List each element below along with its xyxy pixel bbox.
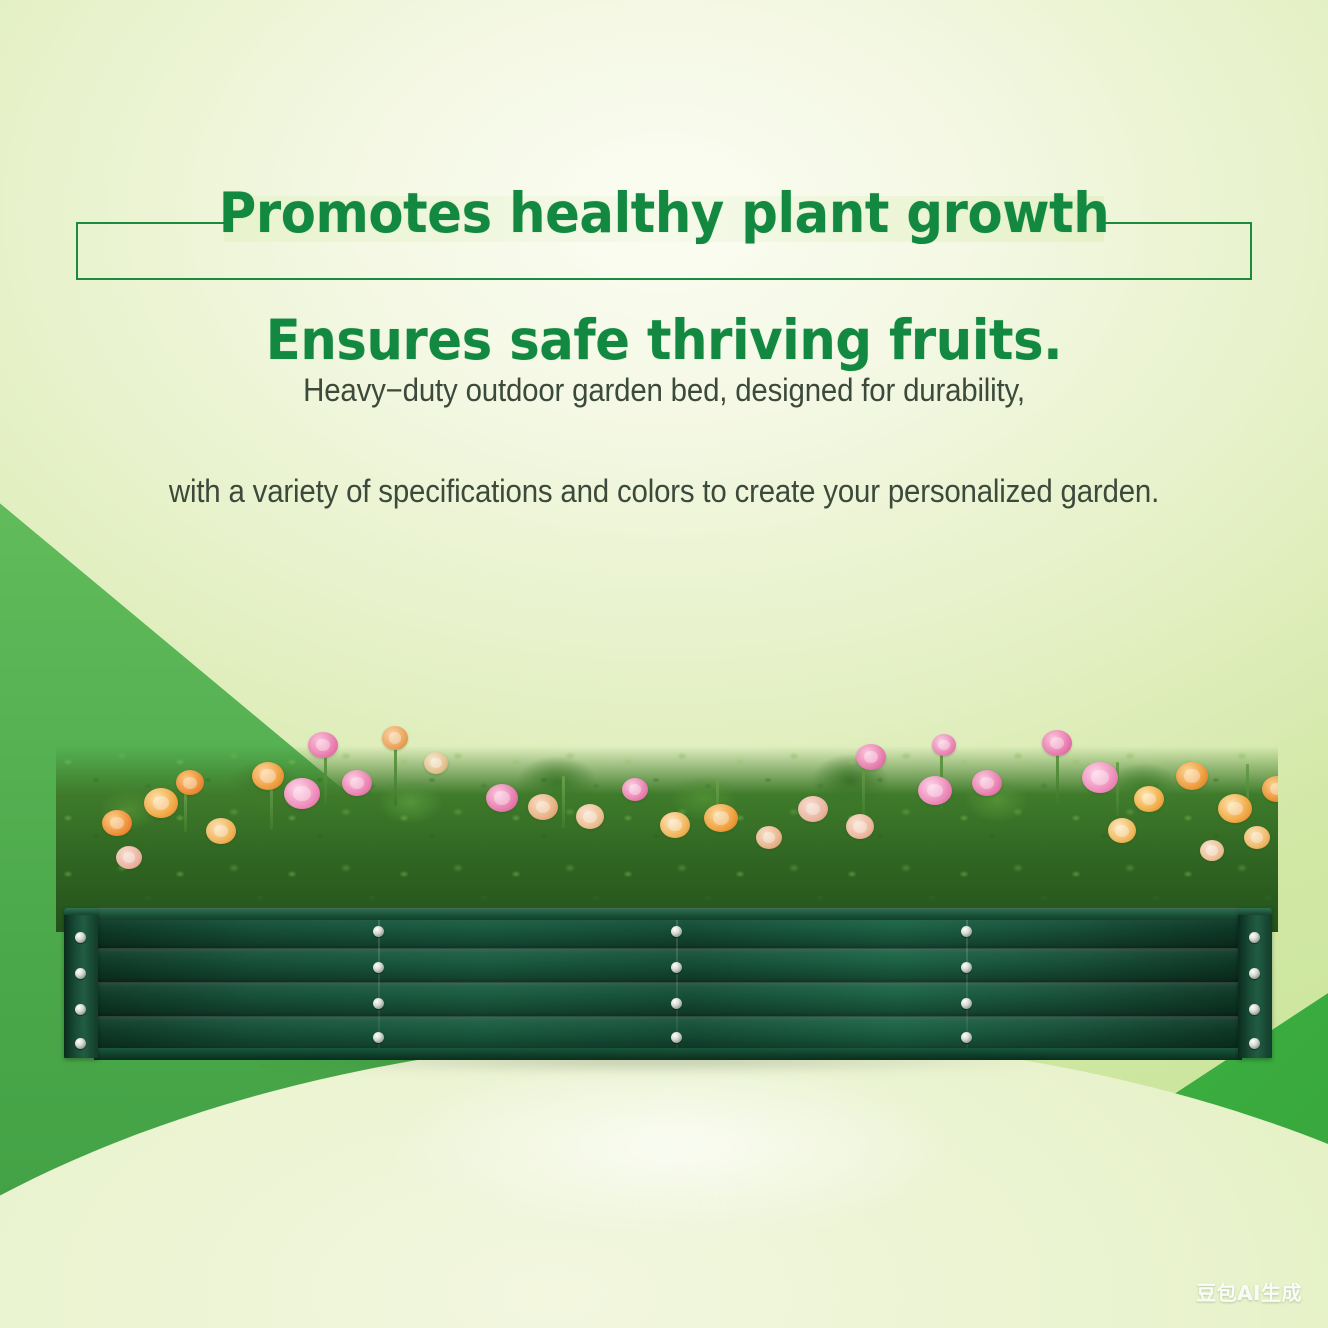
bolt	[75, 932, 86, 943]
bolt	[671, 962, 682, 973]
rose-flower	[1218, 794, 1252, 823]
rose-flower	[1262, 776, 1278, 802]
corner-post-right	[1238, 908, 1272, 1058]
rose-flower	[756, 826, 782, 849]
bolt	[961, 998, 972, 1009]
rose-flower	[1134, 786, 1164, 812]
bolt	[961, 1032, 972, 1043]
rose-flower	[660, 812, 690, 838]
bolt	[671, 1032, 682, 1043]
rose-blossoms	[56, 700, 1278, 932]
rose-flower	[798, 796, 828, 822]
rose-flower	[144, 788, 178, 818]
rose-flower	[1176, 762, 1208, 790]
subtitle-line-1: Heavy−duty outdoor garden bed, designed …	[303, 372, 1025, 408]
rose-flower	[846, 814, 874, 839]
rose-flower	[116, 846, 142, 869]
post-cap	[1238, 908, 1272, 915]
bolt	[1249, 1038, 1260, 1049]
watermark: 豆包AI生成	[1196, 1277, 1302, 1306]
bolt	[961, 926, 972, 937]
rose-flower	[1108, 818, 1136, 843]
rose-stem	[394, 744, 397, 806]
rose-flower	[176, 770, 204, 795]
rose-flower	[342, 770, 372, 796]
rose-flower	[382, 726, 408, 750]
corrugation-rib	[94, 948, 1242, 983]
product-image	[48, 700, 1288, 1090]
rose-flower	[918, 776, 952, 805]
corner-post-left	[64, 908, 98, 1058]
bolt	[961, 962, 972, 973]
rose-flower	[576, 804, 604, 829]
rose-flower	[972, 770, 1002, 796]
rose-flower	[308, 732, 338, 758]
bolt	[671, 998, 682, 1009]
bolt	[1249, 932, 1260, 943]
corrugation-rib	[94, 1016, 1242, 1050]
rose-flower	[1200, 840, 1224, 861]
rose-flower	[704, 804, 738, 832]
bolt	[373, 998, 384, 1009]
rose-flower	[932, 734, 956, 756]
rose-flower	[1244, 826, 1270, 849]
rose-flower	[1082, 762, 1118, 793]
bolt	[671, 926, 682, 937]
foliage-canopy	[56, 700, 1278, 932]
bolt	[373, 962, 384, 973]
rose-stem	[562, 776, 565, 828]
rose-flower	[528, 794, 558, 820]
rose-flower	[424, 752, 448, 774]
rose-stem	[1116, 762, 1119, 816]
page-subtitle: Heavy−duty outdoor garden bed, designed …	[53, 314, 1275, 516]
rose-flower	[622, 778, 648, 801]
post-cap	[64, 908, 98, 915]
box-drop-shadow	[108, 1048, 1198, 1074]
rose-stem	[324, 750, 327, 806]
rose-flower	[856, 744, 886, 770]
rose-flower	[102, 810, 132, 836]
bolt	[75, 1004, 86, 1015]
rose-flower	[486, 784, 518, 812]
bolt	[1249, 1004, 1260, 1015]
headline-line-1: Promotes healthy plant growth	[46, 182, 1281, 246]
rose-flower	[206, 818, 236, 844]
box-panel	[94, 914, 1242, 1050]
bolt	[373, 1032, 384, 1043]
bolt	[1249, 968, 1260, 979]
product-banner: Promotes healthy plant growth Ensures sa…	[0, 0, 1328, 1328]
rose-flower	[284, 778, 320, 809]
bolt	[75, 968, 86, 979]
rose-flower	[252, 762, 284, 790]
bolt	[373, 926, 384, 937]
box-top-rail	[94, 908, 1242, 920]
garden-bed-box	[64, 908, 1272, 1060]
corrugation-rib	[94, 982, 1242, 1017]
bolt	[75, 1038, 86, 1049]
rose-flower	[1042, 730, 1072, 756]
subtitle-line-2: with a variety of specifications and col…	[169, 473, 1159, 509]
